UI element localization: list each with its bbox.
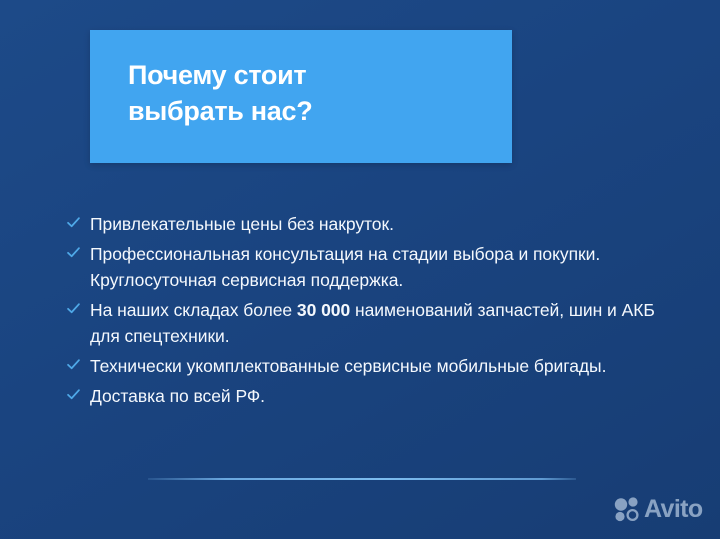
list-item-label: На наших складах более 30 000 наименован…: [90, 300, 655, 347]
avito-brand-label: Avito: [644, 497, 703, 522]
avito-dots-icon: [613, 495, 641, 523]
inventory-count-emphasis: 30 000: [297, 300, 350, 320]
list-item-label: Технически укомплектованные сервисные мо…: [90, 356, 606, 376]
list-item-label: Профессиональная консультация на стадии …: [90, 244, 600, 291]
list-item-label: Доставка по всей РФ.: [90, 386, 265, 406]
list-item: Привлекательные цены без накруток.: [66, 211, 666, 238]
check-icon: [66, 215, 81, 230]
check-icon: [66, 301, 81, 316]
benefits-list: Привлекательные цены без накруток. Профе…: [66, 211, 666, 412]
slide-canvas: Почему стоит выбрать нас? Привлекательны…: [0, 0, 720, 539]
title-box: Почему стоит выбрать нас?: [90, 30, 512, 163]
avito-watermark: Avito: [613, 495, 703, 523]
check-icon: [66, 245, 81, 260]
list-item: На наших складах более 30 000 наименован…: [66, 297, 666, 350]
page-title: Почему стоит выбрать нас?: [128, 58, 488, 130]
list-item: Профессиональная консультация на стадии …: [66, 241, 666, 294]
divider: [148, 478, 576, 480]
check-icon: [66, 387, 81, 402]
list-item-text-before: На наших складах более: [90, 300, 297, 320]
list-item: Технически укомплектованные сервисные мо…: [66, 353, 666, 380]
list-item: Доставка по всей РФ.: [66, 383, 666, 410]
list-item-label: Привлекательные цены без накруток.: [90, 214, 394, 234]
check-icon: [66, 357, 81, 372]
